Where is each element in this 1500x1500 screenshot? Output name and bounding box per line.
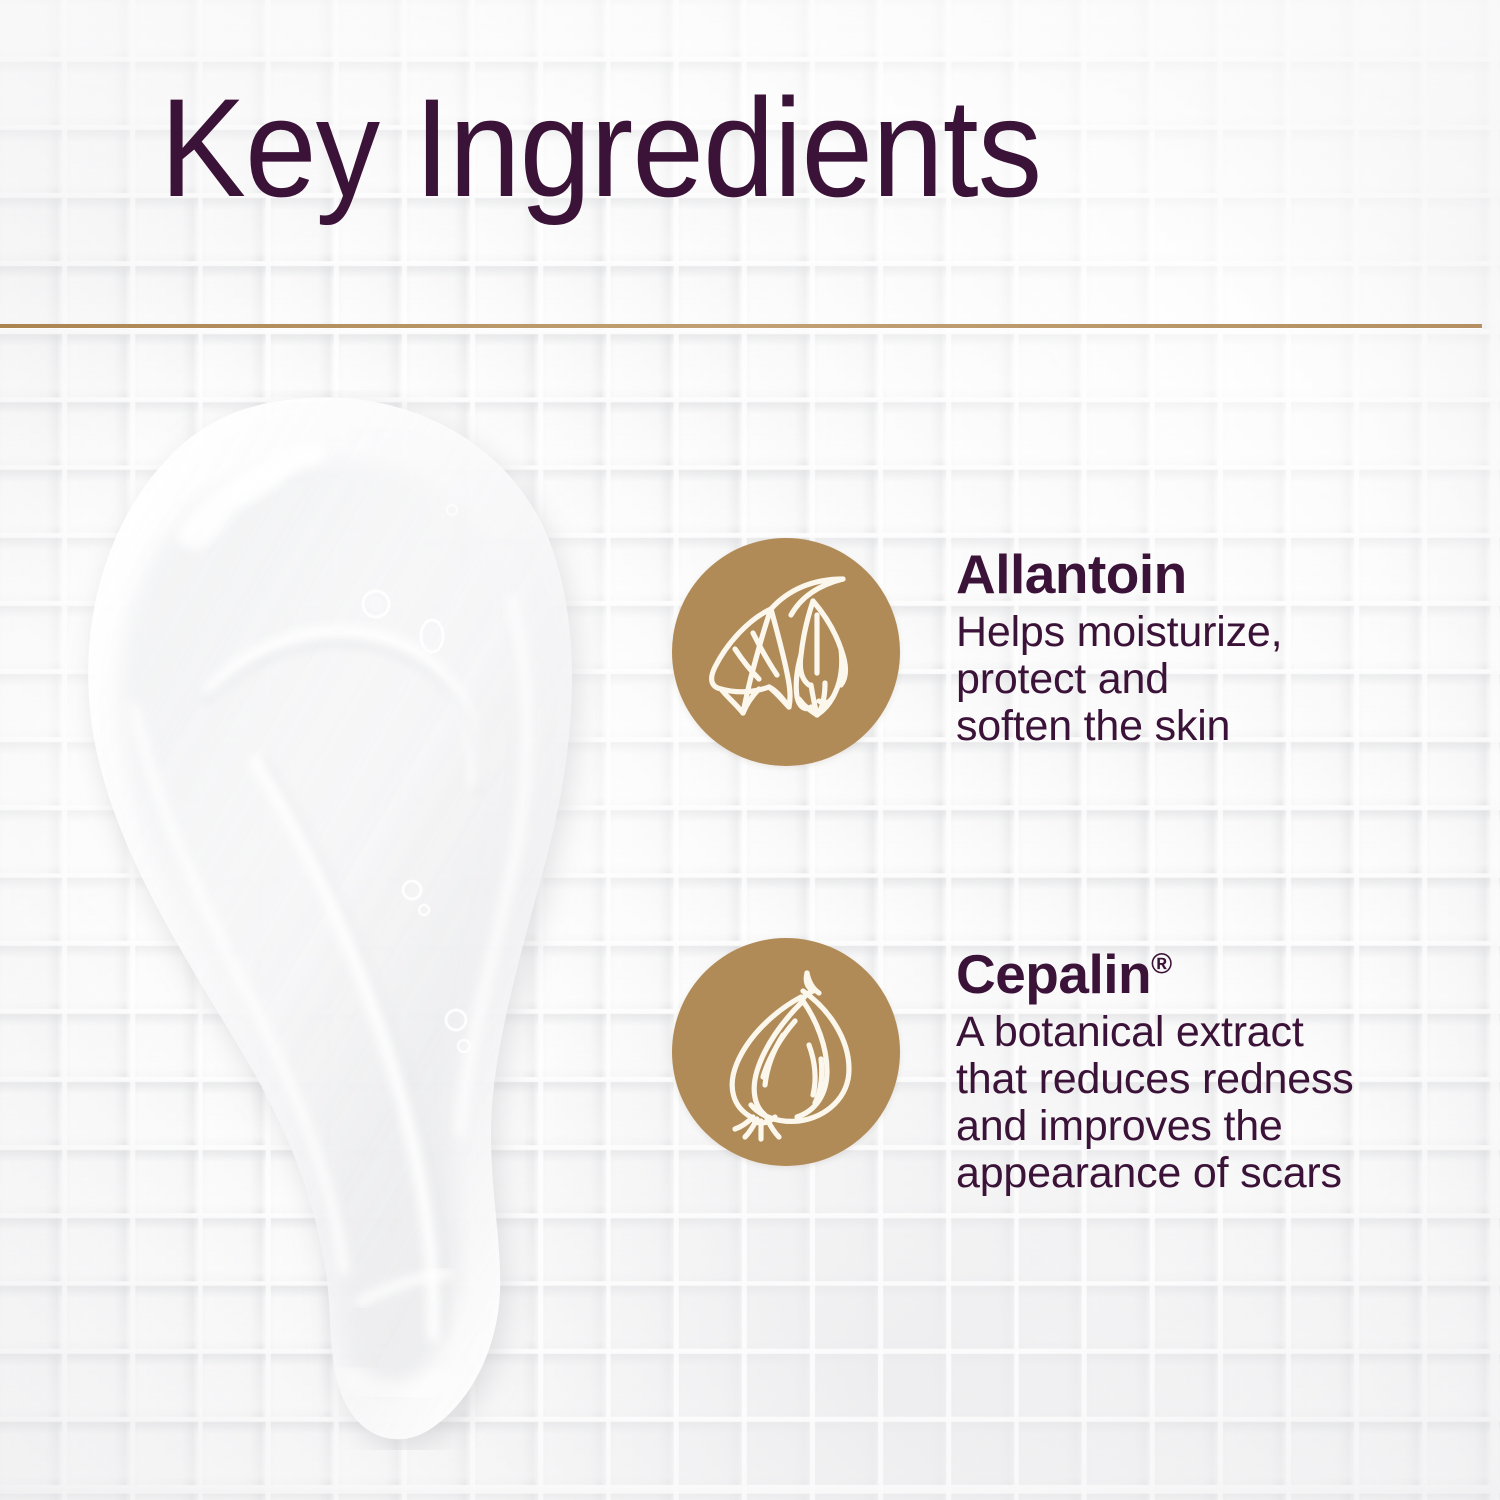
description-line: Helps moisturize, <box>956 609 1282 656</box>
ingredient-description-cepalin: A botanical extract that reduces redness… <box>956 1009 1354 1197</box>
ingredient-description-allantoin: Helps moisturize, protect and soften the… <box>956 609 1282 750</box>
ingredient-item-cepalin: Cepalin® A botanical extract that reduce… <box>672 938 1354 1197</box>
description-line: and improves the <box>956 1103 1354 1150</box>
description-line: soften the skin <box>956 703 1282 750</box>
description-line: protect and <box>956 656 1282 703</box>
page-title: Key Ingredients <box>160 78 1041 218</box>
ingredient-name-allantoin: Allantoin <box>956 546 1282 603</box>
ingredient-text-allantoin: Allantoin Helps moisturize, protect and … <box>956 538 1282 750</box>
ingredient-item-allantoin: Allantoin Helps moisturize, protect and … <box>672 538 1282 766</box>
description-line: appearance of scars <box>956 1150 1354 1197</box>
gold-divider <box>0 324 1482 328</box>
ingredient-name-text: Cepalin <box>956 943 1151 1005</box>
infographic-canvas: Key Ingredients <box>0 0 1500 1500</box>
description-line: A botanical extract <box>956 1009 1354 1056</box>
ingredient-name-text: Allantoin <box>956 543 1187 605</box>
onion-bulb-icon <box>672 938 900 1166</box>
trademark-symbol: ® <box>1151 949 1172 981</box>
ingredient-name-cepalin: Cepalin® <box>956 946 1354 1003</box>
ingredient-text-cepalin: Cepalin® A botanical extract that reduce… <box>956 938 1354 1197</box>
description-line: that reduces redness <box>956 1056 1354 1103</box>
comfrey-flower-icon <box>672 538 900 766</box>
